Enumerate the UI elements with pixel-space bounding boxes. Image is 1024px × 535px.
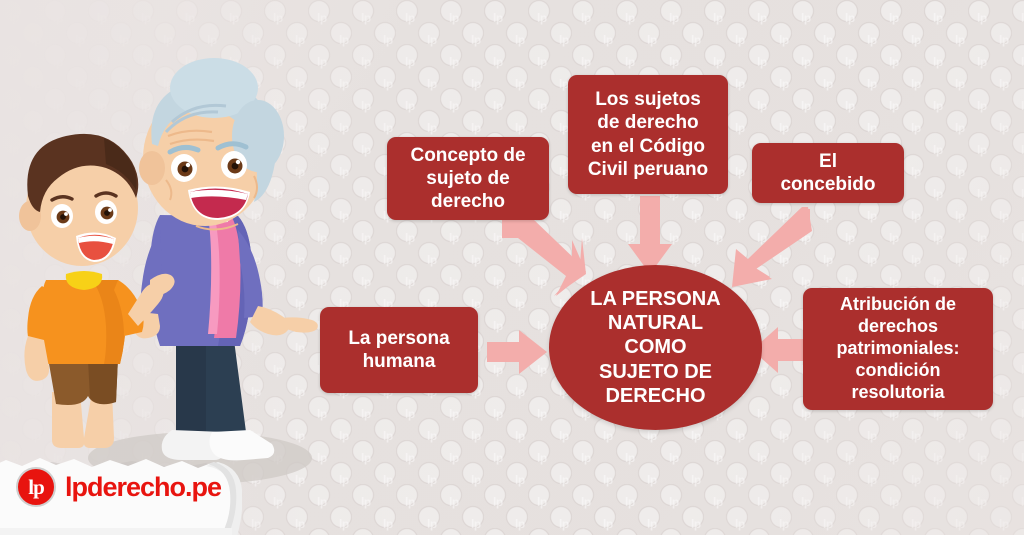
background-watermark-glyph: lp [449, 496, 459, 508]
background-watermark-glyph: lp [757, 496, 767, 508]
background-watermark-glyph: lp [999, 34, 1009, 46]
background-watermark-glyph: lp [691, 430, 701, 442]
background-watermark-glyph: lp [449, 56, 459, 68]
background-watermark-glyph: lp [845, 496, 855, 508]
background-watermark-glyph: lp [867, 254, 877, 266]
background-watermark-glyph: lp [735, 122, 745, 134]
background-watermark-glyph: lp [537, 408, 547, 420]
background-watermark-glyph: lp [801, 100, 811, 112]
background-watermark-glyph: lp [361, 232, 371, 244]
background-watermark-glyph: lp [603, 210, 613, 222]
background-watermark-glyph: lp [383, 430, 393, 442]
background-watermark-glyph: lp [361, 188, 371, 200]
background-watermark-glyph: lp [823, 122, 833, 134]
background-watermark-glyph: lp [405, 100, 415, 112]
logo-text: lpderecho.pe [65, 472, 221, 503]
background-watermark-glyph: lp [581, 12, 591, 24]
background-watermark-glyph: lp [361, 452, 371, 464]
background-watermark-glyph: lp [999, 78, 1009, 90]
background-watermark-glyph: lp [955, 474, 965, 486]
background-watermark-glyph: lp [625, 12, 635, 24]
background-watermark-glyph: lp [933, 56, 943, 68]
background-watermark-glyph: lp [515, 430, 525, 442]
background-watermark-glyph: lp [339, 166, 349, 178]
background-watermark-glyph: lp [867, 78, 877, 90]
background-watermark-glyph: lp [823, 474, 833, 486]
background-watermark-glyph: lp [801, 452, 811, 464]
background-watermark-glyph: lp [845, 56, 855, 68]
background-watermark-glyph: lp [735, 78, 745, 90]
background-watermark-glyph: lp [471, 518, 481, 530]
background-watermark-glyph: lp [911, 210, 921, 222]
background-watermark-glyph: lp [999, 210, 1009, 222]
background-watermark-glyph: lp [977, 12, 987, 24]
background-watermark-glyph: lp [999, 166, 1009, 178]
background-watermark-glyph: lp [669, 452, 679, 464]
background-watermark-glyph: lp [933, 12, 943, 24]
node-atribucion-de-derechos-patrimoniales[interactable]: Atribución de derechos patrimoniales: co… [803, 288, 993, 410]
background-watermark-glyph: lp [647, 518, 657, 530]
background-watermark-glyph: lp [757, 56, 767, 68]
background-watermark-glyph: lp [471, 254, 481, 266]
background-watermark-glyph: lp [889, 276, 899, 288]
background-watermark-glyph: lp [889, 100, 899, 112]
background-watermark-glyph: lp [493, 408, 503, 420]
background-watermark-glyph: lp [801, 56, 811, 68]
arrow-codigo-to-center [626, 196, 674, 276]
background-watermark-glyph: lp [339, 430, 349, 442]
background-watermark-glyph: lp [867, 430, 877, 442]
background-watermark-glyph: lp [889, 452, 899, 464]
background-watermark-glyph: lp [515, 34, 525, 46]
background-watermark-glyph: lp [867, 474, 877, 486]
background-watermark-glyph: lp [999, 386, 1009, 398]
background-watermark-glyph: lp [361, 144, 371, 156]
background-watermark-glyph: lp [757, 408, 767, 420]
background-watermark-glyph: lp [977, 144, 987, 156]
background-watermark-glyph: lp [713, 12, 723, 24]
background-watermark-glyph: lp [515, 122, 525, 134]
background-watermark-glyph: lp [691, 474, 701, 486]
background-watermark-glyph: lp [647, 474, 657, 486]
background-watermark-glyph: lp [735, 474, 745, 486]
background-watermark-glyph: lp [933, 452, 943, 464]
background-watermark-glyph: lp [911, 78, 921, 90]
background-watermark-glyph: lp [955, 78, 965, 90]
background-watermark-glyph: lp [559, 430, 569, 442]
background-watermark-glyph: lp [845, 12, 855, 24]
background-watermark-glyph: lp [999, 474, 1009, 486]
background-watermark-glyph: lp [317, 12, 327, 24]
background-watermark-glyph: lp [603, 254, 613, 266]
node-el-concebido[interactable]: El concebido [752, 143, 904, 203]
background-watermark-glyph: lp [515, 474, 525, 486]
background-watermark-glyph: lp [339, 78, 349, 90]
background-watermark-glyph: lp [823, 78, 833, 90]
background-watermark-glyph: lp [933, 188, 943, 200]
node-concepto-de-sujeto-de-derecho[interactable]: Concepto de sujeto de derecho [387, 137, 549, 220]
background-watermark-glyph: lp [603, 34, 613, 46]
background-watermark-glyph: lp [911, 254, 921, 266]
background-watermark-glyph: lp [559, 518, 569, 530]
background-watermark-glyph: lp [515, 518, 525, 530]
background-watermark-glyph: lp [999, 298, 1009, 310]
background-watermark-glyph: lp [911, 518, 921, 530]
background-watermark-glyph: lp [493, 496, 503, 508]
background-watermark-glyph: lp [361, 56, 371, 68]
background-watermark-glyph: lp [537, 496, 547, 508]
background-watermark-glyph: lp [405, 12, 415, 24]
background-watermark-glyph: lp [713, 56, 723, 68]
background-watermark-glyph: lp [339, 122, 349, 134]
background-watermark-glyph: lp [713, 452, 723, 464]
background-watermark-glyph: lp [427, 78, 437, 90]
background-watermark-glyph: lp [867, 34, 877, 46]
background-watermark-glyph: lp [471, 122, 481, 134]
background-watermark-glyph: lp [911, 122, 921, 134]
background-watermark-glyph: lp [977, 276, 987, 288]
background-watermark-glyph: lp [405, 276, 415, 288]
background-watermark-glyph: lp [361, 12, 371, 24]
background-watermark-glyph: lp [647, 34, 657, 46]
background-watermark-glyph: lp [977, 452, 987, 464]
background-watermark-glyph: lp [669, 56, 679, 68]
background-watermark-glyph: lp [339, 34, 349, 46]
background-watermark-glyph: lp [735, 518, 745, 530]
background-watermark-glyph: lp [383, 34, 393, 46]
background-watermark-glyph: lp [625, 452, 635, 464]
background-watermark-glyph: lp [361, 496, 371, 508]
background-watermark-glyph: lp [757, 452, 767, 464]
background-watermark-glyph: lp [449, 408, 459, 420]
background-watermark-glyph: lp [999, 254, 1009, 266]
background-watermark-glyph: lp [537, 100, 547, 112]
background-watermark-glyph: lp [955, 166, 965, 178]
background-watermark-glyph: lp [537, 12, 547, 24]
background-watermark-glyph: lp [405, 452, 415, 464]
background-watermark-glyph: lp [449, 100, 459, 112]
background-watermark-glyph: lp [845, 232, 855, 244]
background-watermark-glyph: lp [427, 122, 437, 134]
background-watermark-glyph: lp [581, 496, 591, 508]
background-watermark-glyph: lp [911, 474, 921, 486]
background-watermark-glyph: lp [471, 78, 481, 90]
site-logo[interactable]: lp lpderecho.pe [16, 467, 221, 507]
background-watermark-glyph: lp [955, 430, 965, 442]
background-watermark-glyph: lp [669, 12, 679, 24]
background-watermark-glyph: lp [779, 122, 789, 134]
background-watermark-glyph: lp [471, 34, 481, 46]
background-watermark-glyph: lp [691, 518, 701, 530]
background-watermark-glyph: lp [779, 474, 789, 486]
background-watermark-glyph: lp [361, 100, 371, 112]
background-watermark-glyph: lp [977, 232, 987, 244]
background-watermark-glyph: lp [691, 34, 701, 46]
background-watermark-glyph: lp [933, 144, 943, 156]
background-watermark-glyph: lp [801, 496, 811, 508]
background-watermark-glyph: lp [339, 254, 349, 266]
background-watermark-glyph: lp [889, 56, 899, 68]
background-watermark-glyph: lp [999, 122, 1009, 134]
background-watermark-glyph: lp [999, 342, 1009, 354]
background-watermark-glyph: lp [977, 188, 987, 200]
background-watermark-glyph: lp [427, 474, 437, 486]
background-watermark-glyph: lp [911, 166, 921, 178]
background-watermark-glyph: lp [779, 430, 789, 442]
background-watermark-glyph: lp [823, 254, 833, 266]
background-watermark-glyph: lp [691, 254, 701, 266]
background-watermark-glyph: lp [801, 12, 811, 24]
background-watermark-glyph: lp [757, 12, 767, 24]
background-watermark-glyph: lp [999, 518, 1009, 530]
background-watermark-glyph: lp [493, 12, 503, 24]
arrow-concepto-to-center [498, 218, 588, 298]
background-watermark-glyph: lp [955, 518, 965, 530]
lp-badge-icon: lp [16, 467, 56, 507]
background-watermark-glyph: lp [779, 518, 789, 530]
background-watermark-glyph: lp [845, 100, 855, 112]
background-watermark-glyph: lp [735, 166, 745, 178]
background-watermark-glyph: lp [691, 210, 701, 222]
background-watermark-glyph: lp [449, 452, 459, 464]
background-watermark-glyph: lp [823, 518, 833, 530]
background-watermark-glyph: lp [889, 496, 899, 508]
background-watermark-glyph: lp [515, 298, 525, 310]
infographic-canvas: lplplplplplplplplplplplplplplplplplplplp… [0, 0, 1024, 535]
background-watermark-glyph: lp [669, 496, 679, 508]
arrow-persona-to-center [487, 328, 549, 376]
background-watermark-glyph: lp [889, 232, 899, 244]
background-watermark-glyph: lp [427, 34, 437, 46]
background-watermark-glyph: lp [933, 232, 943, 244]
background-watermark-glyph: lp [361, 408, 371, 420]
background-watermark-glyph: lp [537, 56, 547, 68]
background-watermark-glyph: lp [559, 474, 569, 486]
background-watermark-glyph: lp [603, 518, 613, 530]
background-watermark-glyph: lp [405, 408, 415, 420]
background-watermark-glyph: lp [955, 210, 965, 222]
background-watermark-glyph: lp [603, 474, 613, 486]
background-watermark-glyph: lp [713, 496, 723, 508]
background-watermark-glyph: lp [361, 276, 371, 288]
background-watermark-glyph: lp [647, 430, 657, 442]
background-watermark-glyph: lp [493, 452, 503, 464]
background-watermark-glyph: lp [911, 34, 921, 46]
background-watermark-glyph: lp [383, 78, 393, 90]
background-watermark-glyph: lp [999, 430, 1009, 442]
background-watermark-glyph: lp [581, 56, 591, 68]
background-watermark-glyph: lp [449, 12, 459, 24]
background-watermark-glyph: lp [493, 100, 503, 112]
background-watermark-glyph: lp [625, 496, 635, 508]
background-watermark-glyph: lp [735, 430, 745, 442]
background-watermark-glyph: lp [779, 78, 789, 90]
background-watermark-glyph: lp [779, 386, 789, 398]
background-watermark-glyph: lp [383, 518, 393, 530]
background-watermark-glyph: lp [427, 430, 437, 442]
background-watermark-glyph: lp [383, 122, 393, 134]
background-watermark-glyph: lp [339, 210, 349, 222]
background-watermark-glyph: lp [911, 430, 921, 442]
background-watermark-glyph: lp [383, 474, 393, 486]
background-watermark-glyph: lp [933, 496, 943, 508]
background-watermark-glyph: lp [955, 34, 965, 46]
background-watermark-glyph: lp [559, 34, 569, 46]
background-watermark-glyph: lp [823, 210, 833, 222]
background-watermark-glyph: lp [779, 34, 789, 46]
background-watermark-glyph: lp [449, 276, 459, 288]
background-watermark-glyph: lp [427, 518, 437, 530]
background-watermark-glyph: lp [867, 518, 877, 530]
node-la-persona-humana[interactable]: La persona humana [320, 307, 478, 393]
background-watermark-glyph: lp [823, 34, 833, 46]
background-watermark-glyph: lp [449, 232, 459, 244]
background-watermark-glyph: lp [735, 34, 745, 46]
background-watermark-glyph: lp [889, 12, 899, 24]
background-watermark-glyph: lp [515, 386, 525, 398]
background-watermark-glyph: lp [933, 100, 943, 112]
background-watermark-glyph: lp [977, 100, 987, 112]
background-watermark-glyph: lp [581, 452, 591, 464]
background-watermark-glyph: lp [603, 430, 613, 442]
background-watermark-glyph: lp [537, 452, 547, 464]
background-watermark-glyph: lp [757, 100, 767, 112]
background-watermark-glyph: lp [339, 474, 349, 486]
background-watermark-glyph: lp [845, 452, 855, 464]
background-watermark-glyph: lp [427, 254, 437, 266]
background-watermark-glyph: lp [625, 56, 635, 68]
background-watermark-glyph: lp [867, 210, 877, 222]
background-watermark-glyph: lp [471, 474, 481, 486]
background-watermark-glyph: lp [383, 254, 393, 266]
background-watermark-glyph: lp [471, 430, 481, 442]
background-watermark-glyph: lp [977, 56, 987, 68]
background-watermark-glyph: lp [955, 122, 965, 134]
background-watermark-glyph: lp [823, 430, 833, 442]
background-watermark-glyph: lp [493, 56, 503, 68]
background-watermark-glyph: lp [405, 56, 415, 68]
node-sujetos-de-derecho-codigo-civil[interactable]: Los sujetos de derecho en el Código Civi… [568, 75, 728, 194]
background-watermark-glyph: lp [845, 276, 855, 288]
arrow-concebido-to-center [714, 205, 814, 291]
background-watermark-glyph: lp [955, 254, 965, 266]
background-watermark-glyph: lp [977, 496, 987, 508]
background-watermark-glyph: lp [339, 518, 349, 530]
background-watermark-glyph: lp [779, 298, 789, 310]
center-node-persona-natural[interactable]: LA PERSONA NATURAL COMO SUJETO DE DERECH… [549, 265, 762, 430]
background-watermark-glyph: lp [933, 276, 943, 288]
background-watermark-glyph: lp [515, 78, 525, 90]
background-watermark-glyph: lp [405, 232, 415, 244]
background-watermark-glyph: lp [405, 496, 415, 508]
background-watermark-glyph: lp [867, 122, 877, 134]
